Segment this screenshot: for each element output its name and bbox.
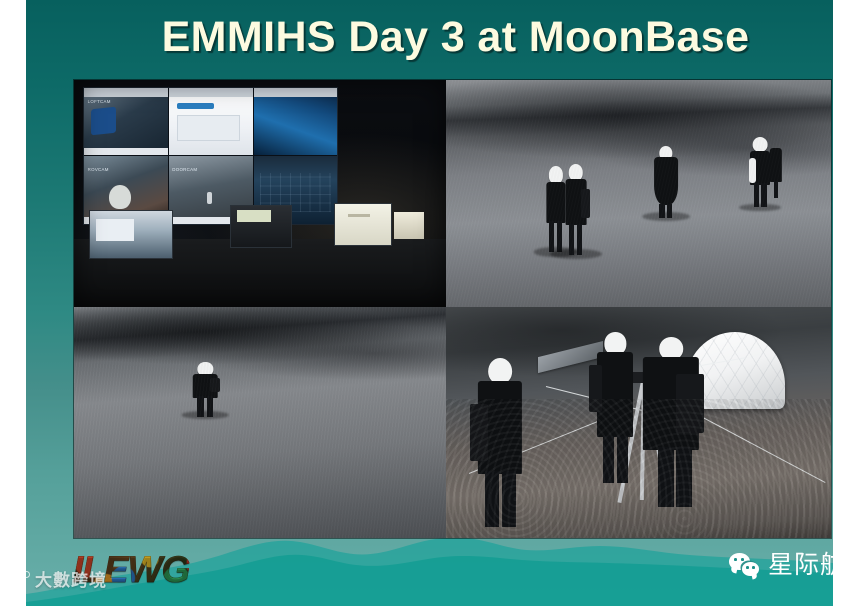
crew-figure: [592, 332, 638, 480]
watermark-text: 大數跨境: [35, 566, 107, 591]
guy-rope: [669, 399, 826, 483]
vignette: [74, 80, 446, 307]
crew-figure: [193, 362, 218, 415]
crew-figure: [565, 164, 586, 255]
slide-background: EMMIHS Day 3 at MoonBase LOFTCAM: [26, 0, 833, 606]
wechat-icon: [729, 553, 759, 576]
stock-watermark: 大數跨境: [4, 566, 107, 591]
crew-figure: [546, 166, 565, 252]
photo-collage: LOFTCAM ROVCAM: [74, 80, 831, 538]
photo-mission-control: LOFTCAM ROVCAM: [74, 80, 446, 307]
slide-title: EMMIHS Day 3 at MoonBase: [52, 6, 833, 68]
crew-figure: [654, 146, 678, 216]
guy-rope: [469, 413, 619, 474]
wechat-account-name: 星际航行: [768, 552, 833, 577]
crew-figure: [750, 137, 770, 207]
photo-eva-crew-slope: [446, 80, 831, 307]
wechat-brand: 星际航行: [729, 552, 833, 577]
crew-figure: [769, 144, 781, 198]
camera-icon: [4, 570, 30, 588]
photo-eva-single-walker: [74, 307, 446, 538]
slide-canvas: EMMIHS Day 3 at MoonBase LOFTCAM: [0, 0, 857, 606]
photo-eva-tripod-dome: [446, 307, 831, 538]
crew-figure: [639, 337, 704, 503]
crew-figure: [473, 358, 527, 524]
control-room-scene: LOFTCAM ROVCAM: [74, 80, 446, 307]
